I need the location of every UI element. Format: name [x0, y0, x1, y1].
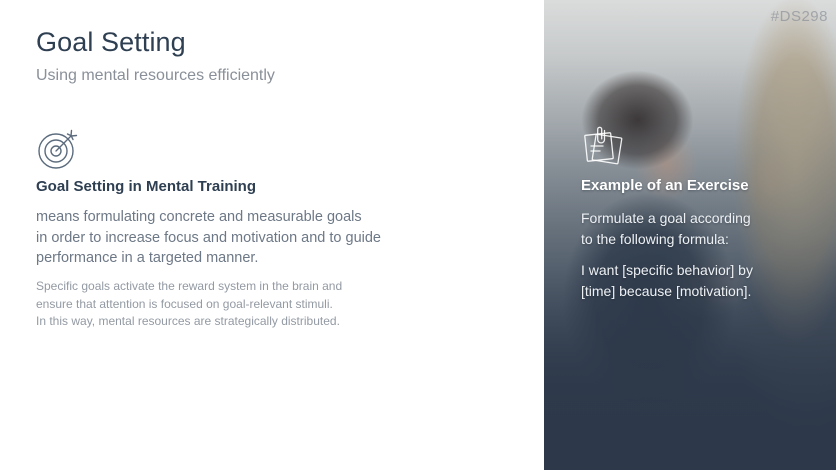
right-section-heading: Example of an Exercise	[581, 176, 749, 196]
right-instruction-line: Formulate a goal according	[581, 208, 751, 229]
right-formula-line: I want [specific behavior] by	[581, 260, 753, 281]
target-arrow-icon	[35, 126, 81, 172]
right-formula-paragraph: I want [specific behavior] by [time] bec…	[581, 260, 753, 301]
left-detail-line: Specific goals activate the reward syste…	[36, 278, 436, 296]
page-title: Goal Setting	[36, 26, 186, 58]
right-formula-line: [time] because [motivation].	[581, 281, 753, 302]
left-detail-paragraph: Specific goals activate the reward syste…	[36, 278, 436, 331]
left-lead-paragraph: means formulating concrete and measurabl…	[36, 207, 456, 269]
left-section-heading: Goal Setting in Mental Training	[36, 177, 256, 197]
left-detail-line: In this way, mental resources are strate…	[36, 313, 436, 331]
left-content-pane: Goal Setting Using mental resources effi…	[0, 0, 544, 470]
page-subtitle: Using mental resources efficiently	[36, 65, 275, 87]
left-lead-line: means formulating concrete and measurabl…	[36, 207, 456, 228]
left-lead-line: performance in a targeted manner.	[36, 248, 456, 269]
right-instruction-paragraph: Formulate a goal according to the follow…	[581, 208, 751, 249]
photo-watermark: #DS298	[771, 8, 828, 25]
left-detail-line: ensure that attention is focused on goal…	[36, 296, 436, 314]
note-cards-paperclip-icon	[580, 124, 628, 172]
slide-root: Goal Setting Using mental resources effi…	[0, 0, 836, 470]
right-instruction-line: to the following formula:	[581, 229, 751, 250]
right-photo-pane: #DS298 Example of an Exercise Formulate …	[544, 0, 836, 470]
left-lead-line: in order to increase focus and motivatio…	[36, 228, 456, 249]
